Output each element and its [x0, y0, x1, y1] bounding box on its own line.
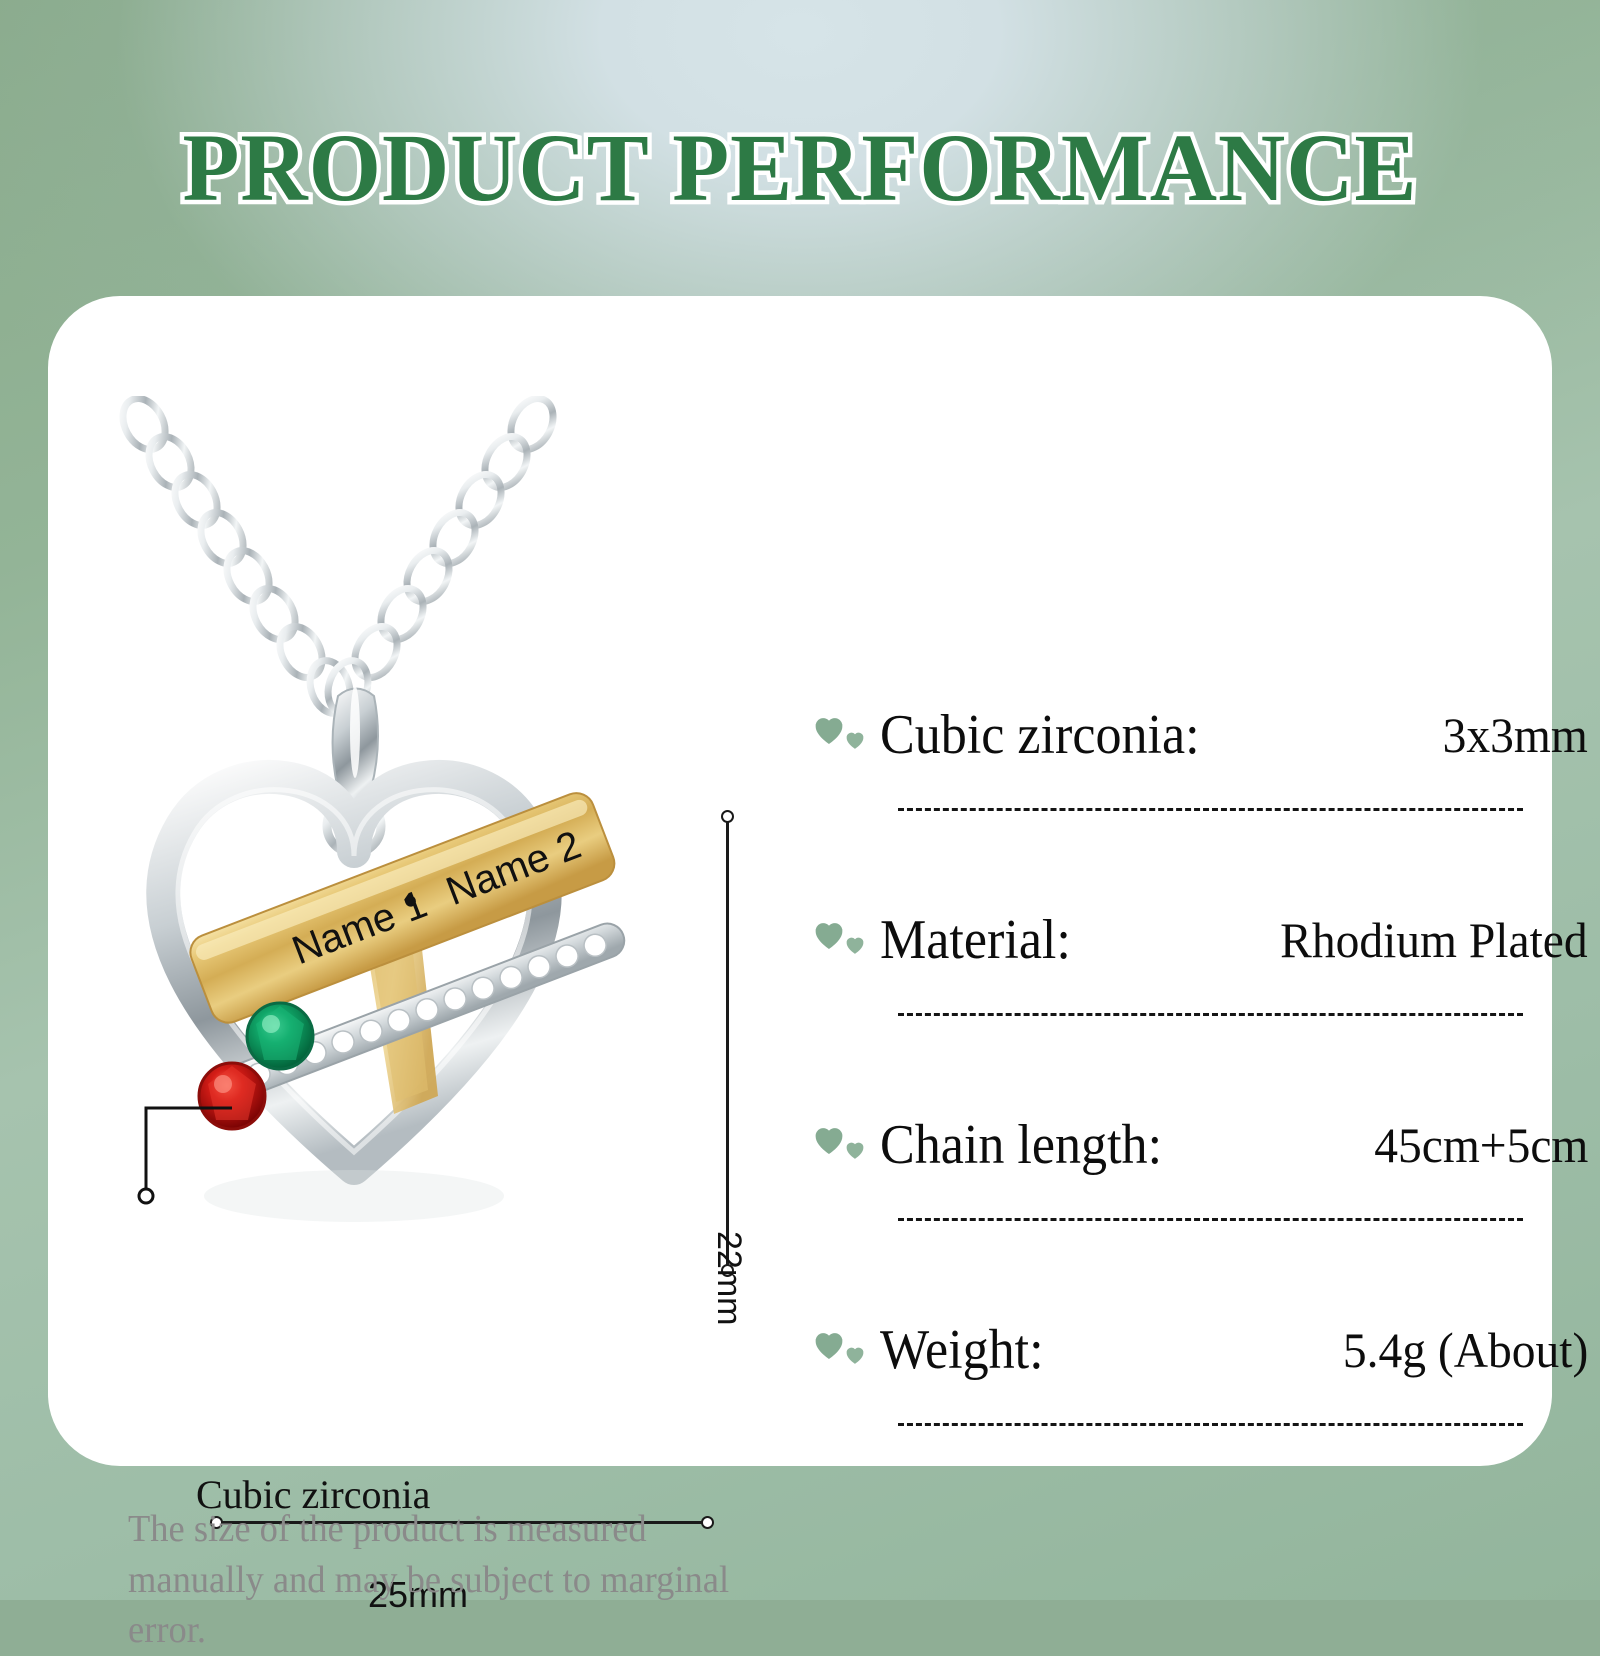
- spec-value: 45cm+5cm: [1374, 1116, 1588, 1174]
- double-heart-icon: [808, 912, 874, 968]
- spec-separator: [898, 808, 1523, 811]
- double-heart-icon: [808, 1117, 874, 1173]
- specifications-list: Cubic zirconia: 3x3mm Material:: [808, 696, 1588, 1516]
- height-dimension-line: [726, 816, 729, 1271]
- red-gemstone: [199, 1063, 265, 1129]
- spec-separator: [898, 1218, 1523, 1221]
- product-image: Name 1 • Name 2: [108, 396, 768, 1356]
- infographic-page: PRODUCT PERFORMANCE: [0, 0, 1600, 1600]
- spec-label: Cubic zirconia:: [880, 703, 1200, 767]
- spec-separator: [898, 1423, 1523, 1426]
- spec-value: 3x3mm: [1443, 706, 1588, 764]
- spec-label: Weight:: [880, 1318, 1044, 1382]
- spec-row-chain-length: Chain length: 45cm+5cm: [808, 1106, 1588, 1311]
- size-disclaimer: The size of the product is measured manu…: [128, 1504, 790, 1656]
- spec-value: 5.4g (About): [1343, 1321, 1588, 1379]
- spec-row-material: Material: Rhodium Plated: [808, 901, 1588, 1106]
- height-dimension-label: 22mm: [709, 1231, 748, 1325]
- spec-separator: [898, 1013, 1523, 1016]
- spec-row-weight: Weight: 5.4g (About): [808, 1311, 1588, 1516]
- height-dimension-top-marker: [721, 810, 734, 823]
- spec-value: Rhodium Plated: [1281, 911, 1588, 969]
- spec-row-cubic-zirconia: Cubic zirconia: 3x3mm: [808, 696, 1588, 901]
- double-heart-icon: [808, 707, 874, 763]
- spec-label: Material:: [880, 908, 1071, 972]
- spec-label: Chain length:: [880, 1113, 1162, 1177]
- double-heart-icon: [808, 1322, 874, 1378]
- green-gemstone: [247, 1003, 313, 1069]
- page-title: PRODUCT PERFORMANCE: [24, 112, 1576, 223]
- content-card: Name 1 • Name 2: [48, 296, 1552, 1466]
- necklace-illustration: Name 1 • Name 2: [108, 396, 768, 1396]
